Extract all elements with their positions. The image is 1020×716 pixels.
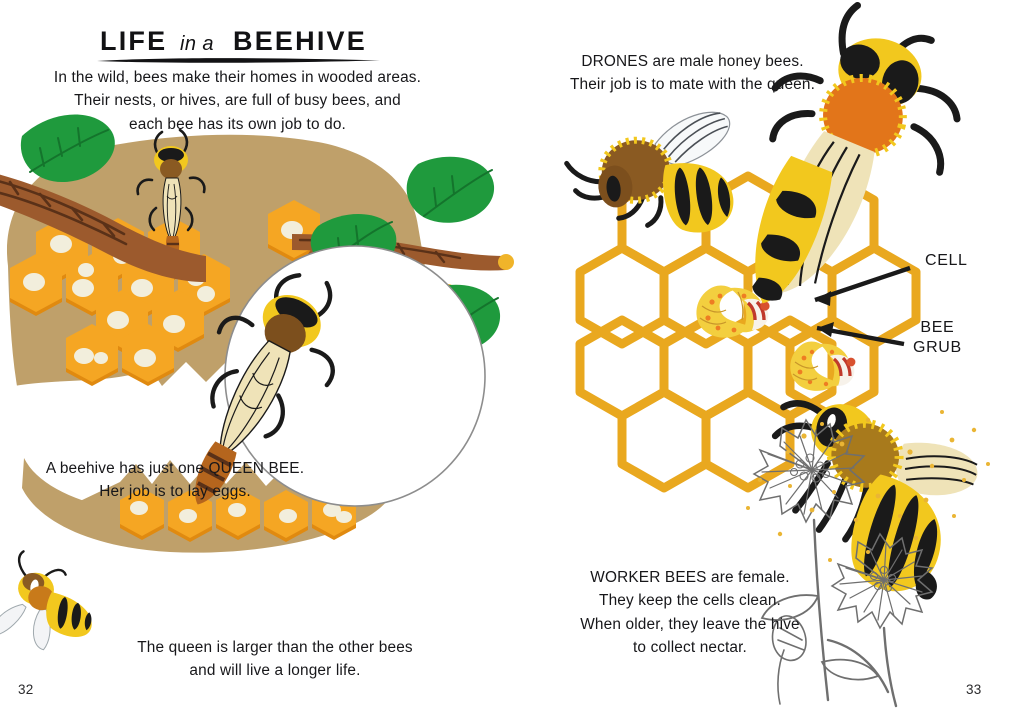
honeycomb-cell-icon: [92, 218, 144, 280]
folio-right: 33: [966, 682, 982, 697]
folio-left: 32: [18, 682, 34, 697]
honeycomb-cell-icon: [10, 254, 62, 316]
drone-thorax: [599, 137, 673, 204]
bee-egg-icon: [279, 509, 297, 523]
bee-egg-icon: [179, 509, 197, 523]
page-title: LIFE in a BEEHIVE: [96, 22, 416, 68]
left-intro-text: In the wild, bees make their homes in wo…: [50, 66, 425, 136]
bee-wing: [652, 110, 733, 167]
bee-egg-icon: [94, 352, 108, 364]
honeycomb-cell-icon: [96, 290, 148, 352]
book-spread: LIFE in a BEEHIVE: [0, 0, 1020, 716]
honeycomb-cell-icon: [66, 324, 118, 386]
branch-cut-end: [498, 254, 514, 270]
bee-egg-icon: [74, 348, 94, 364]
honeycomb-cell-icon: [178, 254, 230, 316]
page-title-underline: [97, 58, 380, 63]
tree-branch-icon-right: [292, 157, 514, 352]
honeycomb-cell-icon: [268, 200, 320, 262]
drone-abdomen: [742, 153, 836, 313]
callout-label-bee-grub: BEE GRUB: [913, 318, 962, 358]
queen-bee-caption: A beehive has just one QUEEN BEE. Her jo…: [20, 457, 330, 504]
bee-egg-icon: [104, 228, 122, 244]
honeycomb-cell-icon: [122, 324, 174, 386]
bee-egg-icon: [131, 279, 153, 297]
bee-egg-icon: [197, 286, 215, 302]
worker-bee-icon: [138, 130, 205, 266]
leaf-icon: [412, 285, 500, 352]
branch-cut-end: [441, 284, 455, 298]
leaf-icon: [407, 157, 494, 223]
bee-thorax: [824, 415, 907, 495]
callout-arrow-icon: [817, 322, 904, 344]
worker-bee-icon-flying: [0, 549, 104, 659]
leaf-icon: [311, 214, 397, 274]
bee-egg-icon: [323, 503, 341, 517]
bee-egg-icon: [281, 221, 303, 239]
bee-egg-icon: [187, 270, 205, 286]
bee-egg-icon: [134, 349, 156, 367]
bee-head: [804, 397, 881, 468]
bee-wing: [29, 608, 54, 651]
bee-egg-icon: [336, 511, 352, 523]
drone-eye: [877, 56, 923, 107]
worker-caption: WORKER BEES are female. They keep the ce…: [560, 566, 820, 660]
callout-label-cell: CELL: [925, 251, 968, 271]
drone-caption: DRONES are male honey bees. Their job is…: [540, 50, 845, 97]
bee-egg-icon: [123, 234, 139, 248]
flower-icon: [754, 420, 932, 706]
bee-eye: [812, 404, 852, 451]
honeycomb-cell-icon: [122, 254, 174, 316]
callout-arrow-icon: [815, 268, 910, 306]
honeycomb-cell-group: [10, 200, 320, 386]
honeycomb-cell-icon: [66, 254, 118, 316]
bee-wing: [763, 126, 878, 307]
bee-abdomen: [839, 471, 955, 601]
bee-egg-icon: [50, 235, 72, 253]
page-title-part2: in a: [180, 33, 214, 55]
tree-branch-icon: [0, 114, 206, 282]
bee-grub-icon: [790, 342, 855, 391]
honeycomb-cell-icon: [36, 218, 88, 280]
grub-head: [744, 299, 770, 330]
bee-egg-icon: [157, 245, 177, 263]
bee-egg-icon: [23, 273, 45, 291]
grub-head: [830, 355, 855, 386]
drone-eye: [605, 175, 622, 202]
drone-head: [596, 164, 634, 209]
page-title-part1: LIFE: [100, 26, 167, 56]
bee-egg-icon: [113, 248, 131, 264]
bee-egg-icon: [163, 315, 185, 333]
drone-head: [831, 30, 929, 116]
bee-egg-icon: [107, 311, 129, 329]
pollen-speck-icon: [746, 410, 990, 562]
page-title-part3: BEEHIVE: [233, 26, 367, 56]
bee-egg-icon: [228, 503, 246, 517]
bee-wing: [0, 599, 26, 640]
bee-egg-icon: [78, 263, 94, 277]
left-page-illustration: [0, 86, 520, 646]
queen-size-caption: The queen is larger than the other bees …: [120, 636, 430, 683]
bee-egg-icon: [72, 279, 94, 297]
honeycomb-cell-icon: [152, 290, 204, 352]
bee-wing: [889, 434, 982, 508]
drone-abdomen: [661, 158, 737, 236]
bee-grub-icon: [696, 286, 769, 338]
drone-bee-icon: [563, 110, 741, 245]
honeycomb-lattice: [580, 176, 916, 488]
page-title-lettering: LIFE in a BEEHIVE: [96, 22, 416, 68]
honeycomb-cell-icon: [148, 218, 200, 280]
